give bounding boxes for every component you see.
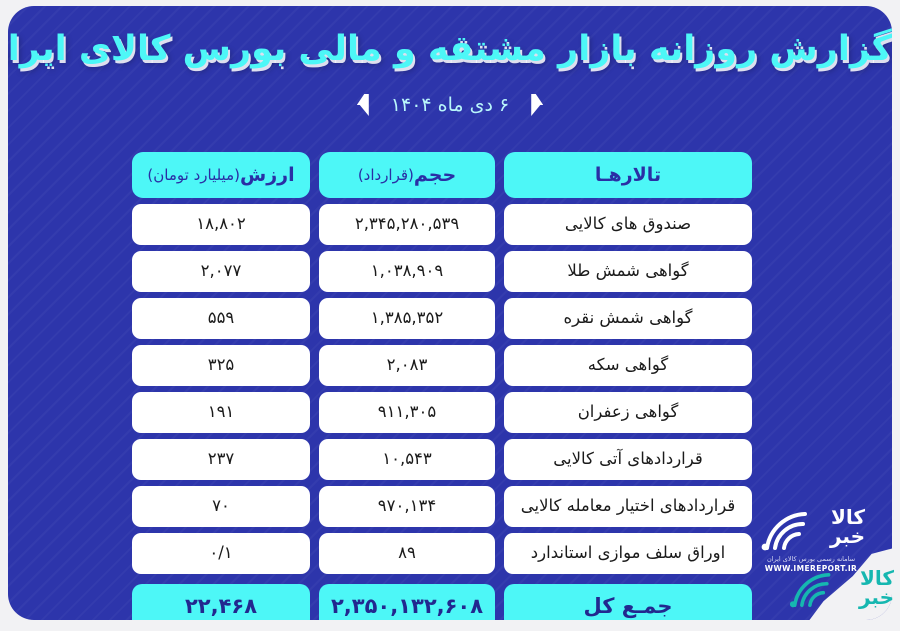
row-volume-value: ۱۰,۵۴۳ [319,439,495,480]
table-row: قراردادهای اختیار معامله کالایی ۹۷۰,۱۳۴ … [132,486,752,527]
row-hall-label: گواهی شمش طلا [504,251,752,292]
chevron-left-icon [357,94,369,116]
table-row: گواهی شمش نقره ۱,۳۸۵,۳۵۲ ۵۵۹ [132,298,752,339]
signal-waves-icon [755,510,811,552]
row-hall-label: گواهی زعفران [504,392,752,433]
date-row: ۶ دی ماه ۱۴۰۴ [8,94,892,116]
signal-dot-icon [762,544,769,551]
logo-mark-secondary: کالا خبر [782,565,894,609]
report-date: ۶ دی ماه ۱۴۰۴ [391,94,509,116]
column-header-value: ارزش(میلیارد تومان) [132,152,310,198]
row-volume-value: ۱,۳۸۵,۳۵۲ [319,298,495,339]
logo-mark: کالا خبر [755,508,867,552]
column-header-volume: حجم(قرارداد) [319,152,495,198]
row-value-amount: ۲۳۷ [132,439,310,480]
table-total-row: جمـع کل ۲,۳۵۰,۱۳۲,۶۰۸ ۲۲,۴۶۸ [132,584,752,620]
row-value-amount: ۱۸,۸۰۲ [132,204,310,245]
row-hall-label: قراردادهای اختیار معامله کالایی [504,486,752,527]
column-header-volume-sub: (قرارداد) [358,168,414,183]
total-value-amount: ۲۲,۴۶۸ [132,584,310,620]
page-title: گزارش روزانه بازار مشتقه و مالی بورس کال… [8,28,892,72]
report-card: گزارش روزانه بازار مشتقه و مالی بورس کال… [8,6,892,620]
table-row: قراردادهای آتی کالایی ۱۰,۵۴۳ ۲۳۷ [132,439,752,480]
row-volume-value: ۹۷۰,۱۳۴ [319,486,495,527]
row-volume-value: ۱,۰۳۸,۹۰۹ [319,251,495,292]
infographic-canvas: گزارش روزانه بازار مشتقه و مالی بورس کال… [0,0,900,631]
table-row: گواهی زعفران ۹۱۱,۳۰۵ ۱۹۱ [132,392,752,433]
table-row: صندوق های کالایی ۲,۳۴۵,۲۸۰,۵۳۹ ۱۸,۸۰۲ [132,204,752,245]
row-value-amount: ۰/۱ [132,533,310,574]
column-header-value-sub: (میلیارد تومان) [147,168,240,183]
column-header-hall: تالارهـا [504,152,752,198]
row-value-amount: ۳۲۵ [132,345,310,386]
signal-waves-icon-secondary [784,571,834,609]
total-volume-value: ۲,۳۵۰,۱۳۲,۶۰۸ [319,584,495,620]
brand-logo-secondary: کالا خبر [790,565,894,627]
row-value-amount: ۵۵۹ [132,298,310,339]
row-value-amount: ۲,۰۷۷ [132,251,310,292]
logo-wordmark-secondary: کالا خبر [859,569,894,607]
logo-tagline: سامانه رسمی بورس کالای ایران [765,555,857,563]
table-row: اوراق سلف موازی استاندارد ۸۹ ۰/۱ [132,533,752,574]
row-value-amount: ۷۰ [132,486,310,527]
total-label: جمـع کل [504,584,752,620]
row-volume-value: ۹۱۱,۳۰۵ [319,392,495,433]
row-hall-label: قراردادهای آتی کالایی [504,439,752,480]
row-hall-label: صندوق های کالایی [504,204,752,245]
row-volume-value: ۸۹ [319,533,495,574]
row-hall-label: گواهی سکه [504,345,752,386]
table-row: گواهی شمش طلا ۱,۰۳۸,۹۰۹ ۲,۰۷۷ [132,251,752,292]
row-volume-value: ۲,۰۸۳ [319,345,495,386]
logo-word-bottom: خبر [830,527,865,546]
logo-word-bottom-secondary: خبر [859,588,894,607]
market-table: تالارهـا حجم(قرارداد) ارزش(میلیارد تومان… [132,152,752,620]
row-volume-value: ۲,۳۴۵,۲۸۰,۵۳۹ [319,204,495,245]
signal-dot-icon-secondary [790,601,796,607]
header-block: گزارش روزانه بازار مشتقه و مالی بورس کال… [8,28,892,72]
table-row: گواهی سکه ۲,۰۸۳ ۳۲۵ [132,345,752,386]
column-header-volume-main: حجم [414,166,456,185]
chevron-right-icon [531,94,543,116]
logo-wordmark: کالا خبر [830,508,865,546]
table-header-row: تالارهـا حجم(قرارداد) ارزش(میلیارد تومان… [132,152,752,198]
row-hall-label: اوراق سلف موازی استاندارد [504,533,752,574]
row-value-amount: ۱۹۱ [132,392,310,433]
column-header-value-main: ارزش [240,166,295,185]
row-hall-label: گواهی شمش نقره [504,298,752,339]
